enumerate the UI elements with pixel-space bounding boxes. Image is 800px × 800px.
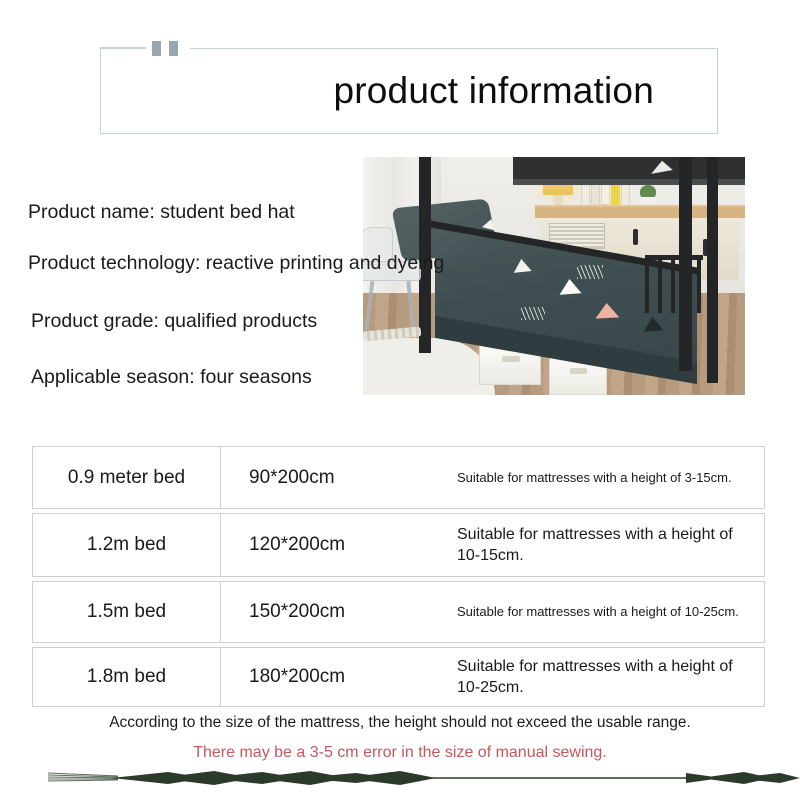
bed-type-label: 1.2m bed: [87, 534, 166, 556]
photo-lamp-base: [553, 195, 563, 205]
table-cell-description: Suitable for mattresses with a height of…: [449, 603, 764, 621]
bed-type-label: 1.8m bed: [87, 666, 166, 688]
description-label: Suitable for mattresses with a height of…: [457, 658, 733, 696]
quote-mark-right-icon: [169, 41, 178, 56]
page-title: product information: [150, 60, 690, 122]
table-row: 1.8m bed 180*200cm Suitable for mattress…: [32, 647, 765, 707]
product-photo: [363, 157, 745, 395]
spec-product-technology: Product technology: reactive printing an…: [28, 254, 444, 274]
dimensions-label: 120*200cm: [249, 534, 345, 555]
photo-print-hatch: [577, 265, 603, 279]
photo-desk-handle: [633, 229, 638, 245]
table-cell-bed-type: 1.8m bed: [33, 648, 221, 706]
spec-product-name: Product name: student bed hat: [28, 203, 295, 223]
photo-bed-post: [679, 157, 692, 371]
photo-print-hatch: [521, 307, 545, 320]
manual-sewing-error-note: There may be a 3-5 cm error in the size …: [0, 744, 800, 762]
table-cell-dimensions: 120*200cm: [221, 534, 449, 556]
description-label: Suitable for mattresses with a height of…: [457, 526, 733, 564]
usable-range-note: According to the size of the mattress, t…: [0, 714, 800, 732]
dimensions-label: 150*200cm: [249, 601, 345, 622]
product-information-page: product information: [0, 0, 800, 800]
table-cell-bed-type: 1.5m bed: [33, 582, 221, 642]
photo-print-triangle: [595, 302, 620, 318]
photo-print-triangle: [559, 278, 582, 294]
dimensions-label: 180*200cm: [249, 666, 345, 687]
table-cell-description: Suitable for mattresses with a height of…: [449, 656, 764, 699]
description-label: Suitable for mattresses with a height of…: [457, 470, 732, 485]
description-label: Suitable for mattresses with a height of…: [457, 604, 739, 619]
photo-print-triangle: [643, 316, 664, 331]
photo-print-triangle: [512, 258, 531, 273]
quote-mark-left-icon: [152, 41, 161, 56]
table-cell-bed-type: 0.9 meter bed: [33, 447, 221, 508]
arrow-leaf-divider-icon: [0, 762, 800, 796]
quote-mark-group: [152, 41, 184, 56]
spec-applicable-season: Applicable season: four seasons: [31, 368, 312, 388]
table-cell-dimensions: 180*200cm: [221, 666, 449, 688]
photo-bed-post: [707, 157, 718, 383]
table-cell-dimensions: 150*200cm: [221, 601, 449, 623]
bed-type-label: 0.9 meter bed: [68, 467, 185, 489]
size-table: 0.9 meter bed 90*200cm Suitable for matt…: [32, 446, 765, 711]
spec-product-grade: Product grade: qualified products: [31, 312, 317, 332]
table-cell-description: Suitable for mattresses with a height of…: [449, 469, 764, 487]
bed-type-label: 1.5m bed: [87, 601, 166, 623]
table-cell-bed-type: 1.2m bed: [33, 514, 221, 576]
photo-bed-guard: [645, 257, 703, 313]
dimensions-label: 90*200cm: [249, 467, 335, 488]
table-row: 1.2m bed 120*200cm Suitable for mattress…: [32, 513, 765, 577]
table-row: 1.5m bed 150*200cm Suitable for mattress…: [32, 581, 765, 643]
table-cell-dimensions: 90*200cm: [221, 467, 449, 489]
table-row: 0.9 meter bed 90*200cm Suitable for matt…: [32, 446, 765, 509]
table-cell-description: Suitable for mattresses with a height of…: [449, 524, 764, 567]
